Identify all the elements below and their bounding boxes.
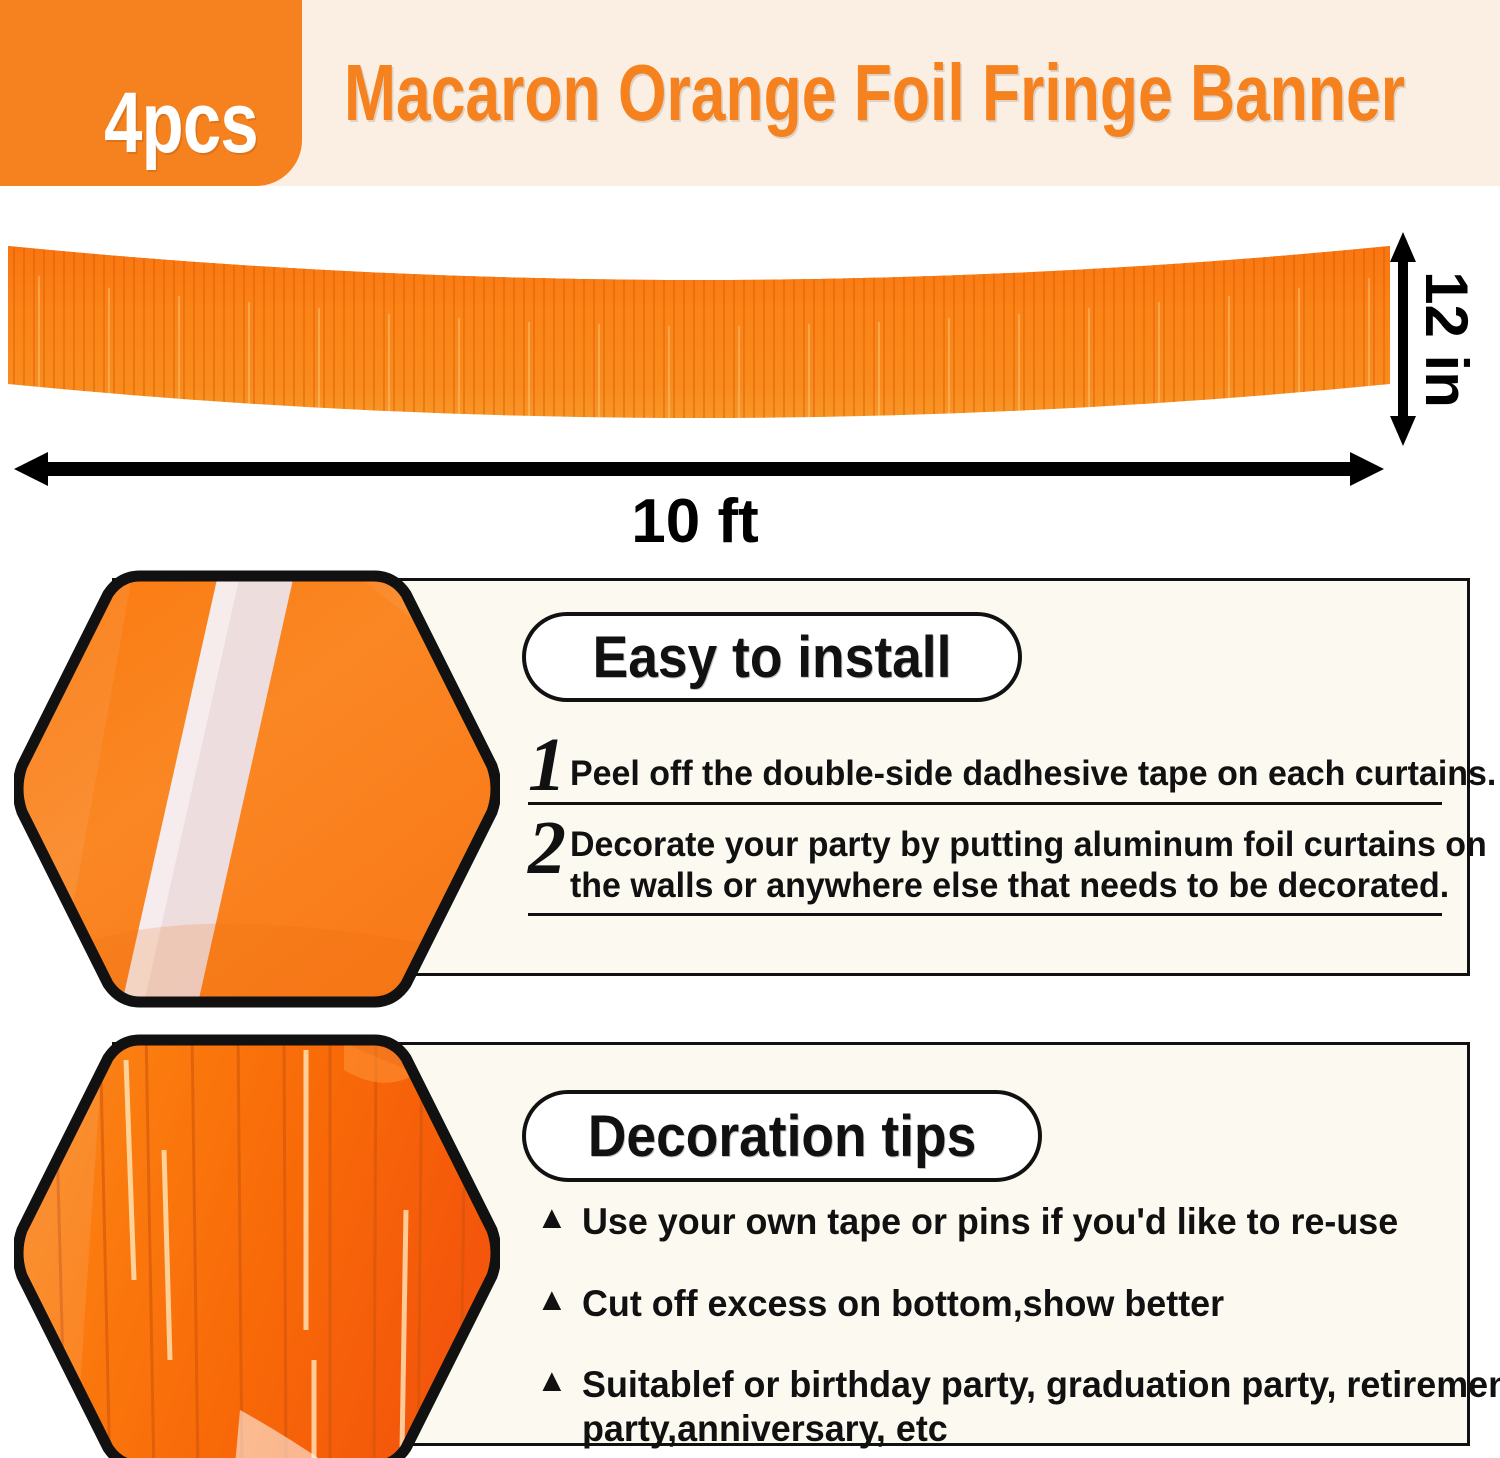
tips-heading-pill: Decoration tips: [522, 1090, 1042, 1182]
width-dimension-arrow: [14, 448, 1384, 490]
tip-item: ▲ Use your own tape or pins if you'd lik…: [536, 1200, 1448, 1244]
step-number: 1: [528, 734, 566, 796]
tip-text: Use your own tape or pins if you'd like …: [582, 1200, 1422, 1244]
triangle-bullet-icon: ▲: [536, 1200, 568, 1235]
install-steps-list: 1 Peel off the double-side dadhesive tap…: [528, 740, 1442, 916]
product-hero: 12 in 10 ft: [0, 186, 1500, 558]
fringe-banner-graphic: [8, 236, 1390, 446]
step-text: Peel off the double-side dadhesive tape …: [570, 740, 1496, 795]
triangle-bullet-icon: ▲: [536, 1282, 568, 1317]
tip-item: ▲ Cut off excess on bottom,show better: [536, 1282, 1448, 1326]
install-step: 1 Peel off the double-side dadhesive tap…: [528, 740, 1442, 805]
install-heading-pill: Easy to install: [522, 612, 1022, 702]
width-dimension-label: 10 ft: [0, 486, 1390, 557]
fringe-banner-image: [8, 236, 1390, 446]
step-text: Decorate your party by putting aluminum …: [570, 823, 1487, 906]
height-dimension-label: 12 in: [1416, 232, 1476, 446]
triangle-bullet-icon: ▲: [536, 1363, 568, 1398]
step-number: 2: [528, 817, 566, 879]
fringe-strips-photo: [14, 1030, 500, 1458]
infographic-page: 4pcs Macaron Orange Foil Fringe Banner: [0, 0, 1500, 1458]
header-bar: 4pcs Macaron Orange Foil Fringe Banner: [0, 0, 1500, 186]
page-title: Macaron Orange Foil Fringe Banner: [330, 0, 1243, 186]
decoration-tips-list: ▲ Use your own tape or pins if you'd lik…: [536, 1200, 1448, 1458]
foil-adhesive-tape-photo: [14, 566, 500, 1012]
tip-text: Cut off excess on bottom,show better: [582, 1282, 1422, 1326]
tip-item: ▲ Suitablef or birthday party, graduatio…: [536, 1363, 1448, 1450]
tip-text: Suitablef or birthday party, graduation …: [582, 1363, 1500, 1450]
install-step: 2 Decorate your party by putting aluminu…: [528, 823, 1442, 915]
